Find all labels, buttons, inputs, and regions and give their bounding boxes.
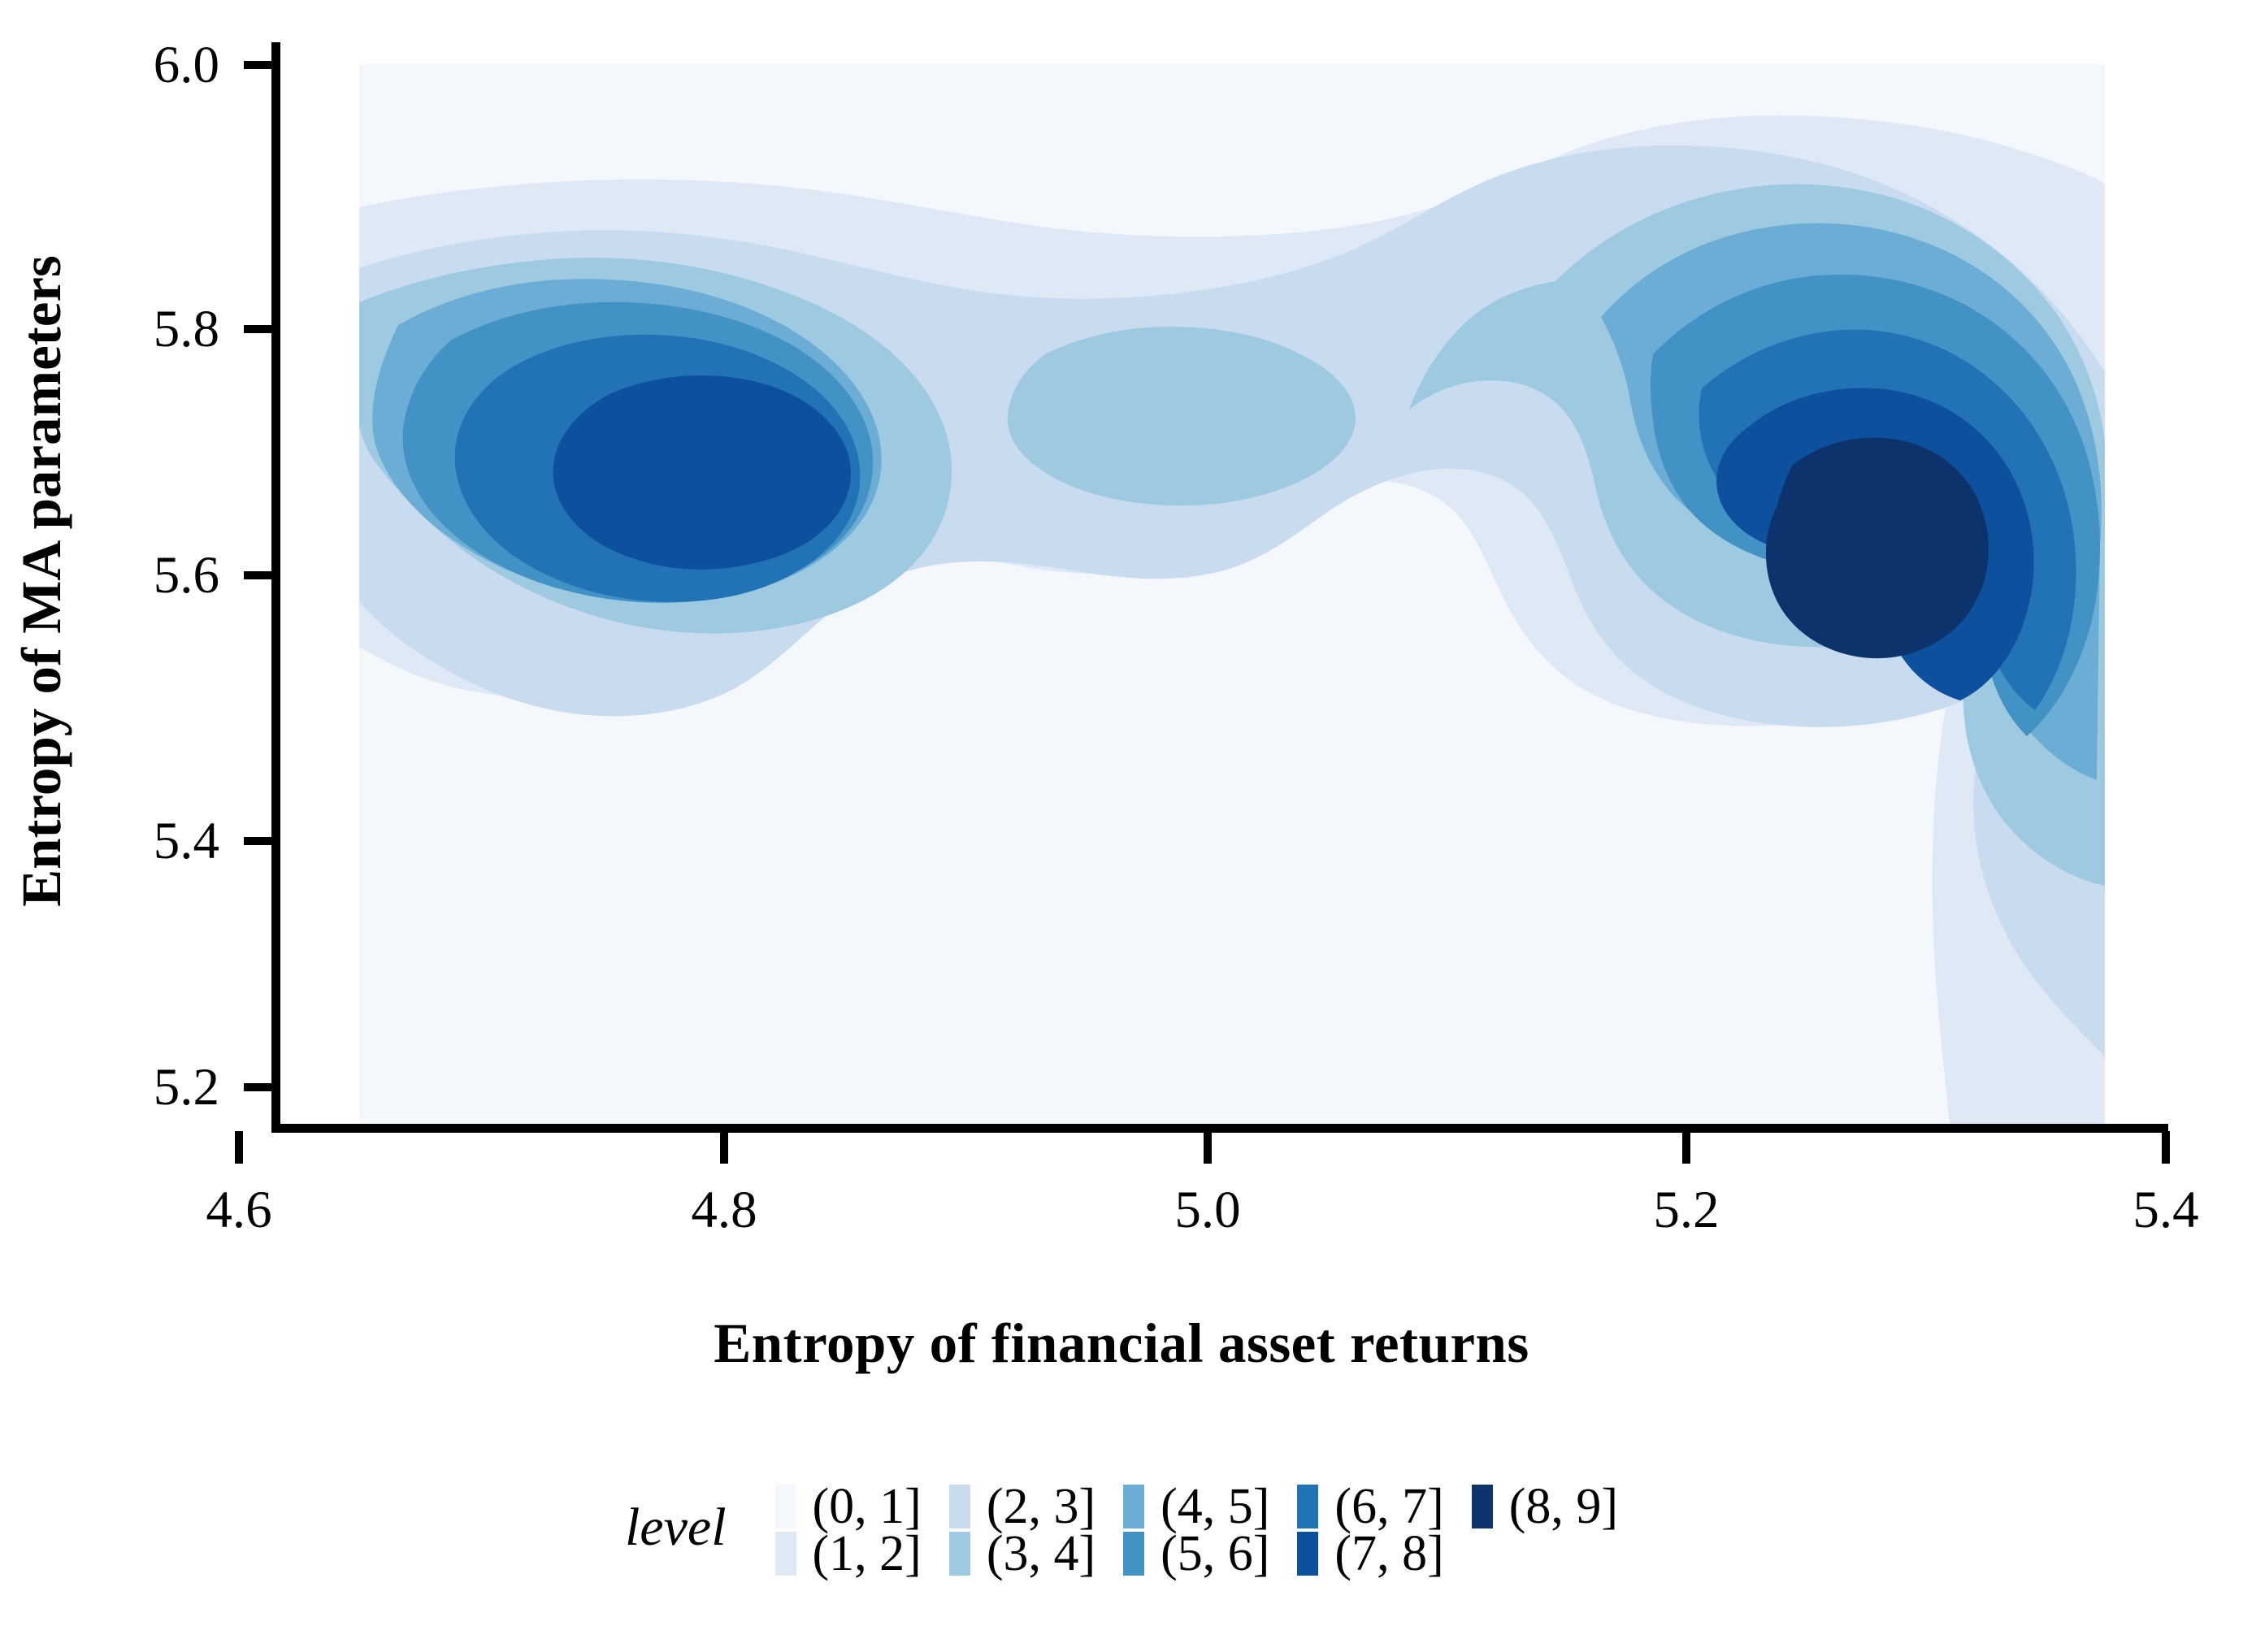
y-axis-ticks bbox=[244, 61, 273, 1091]
legend-label-7-8: (7, 8] bbox=[1334, 1528, 1443, 1579]
legend-entry-8-9[interactable]: (8, 9] bbox=[1472, 1484, 1618, 1529]
legend-label-0-1: (0, 1] bbox=[813, 1481, 922, 1532]
legend-entry-3-4[interactable]: (3, 4] bbox=[949, 1531, 1095, 1576]
legend-swatch-6-7 bbox=[1297, 1485, 1318, 1528]
legend-entry-5-6[interactable]: (5, 6] bbox=[1123, 1531, 1269, 1576]
legend-entry-1-2[interactable]: (1, 2] bbox=[775, 1531, 922, 1576]
legend-label-6-7: (6, 7] bbox=[1334, 1481, 1443, 1532]
legend-swatch-3-4 bbox=[949, 1532, 970, 1576]
legend-entry-2-3[interactable]: (2, 3] bbox=[949, 1484, 1095, 1529]
legend-entry-0-1[interactable]: (0, 1] bbox=[775, 1484, 922, 1529]
contour-layer bbox=[359, 64, 2106, 1130]
legend-label-8-9: (8, 9] bbox=[1509, 1481, 1618, 1532]
legend-label-1-2: (1, 2] bbox=[813, 1528, 922, 1579]
x-tick-label-4-8: 4.8 bbox=[643, 1180, 805, 1241]
legend-entry-4-5[interactable]: (4, 5] bbox=[1123, 1484, 1269, 1529]
legend-swatch-1-2 bbox=[775, 1532, 796, 1576]
legend-swatch-7-8 bbox=[1297, 1532, 1318, 1576]
plot-canvas bbox=[0, 0, 2243, 1652]
legend-swatch-0-1 bbox=[775, 1485, 796, 1528]
legend-entries: (0, 1] (1, 2] (2, 3] (3, 4] (4, 5] (5, 6… bbox=[775, 1484, 1618, 1576]
legend-label-5-6: (5, 6] bbox=[1161, 1528, 1269, 1579]
contour-band-8-9-right bbox=[1766, 437, 1989, 658]
contour-band-7-8-left bbox=[553, 375, 851, 570]
legend: level (0, 1] (1, 2] (2, 3] (3, 4] (4, 5] bbox=[0, 1484, 2243, 1576]
legend-label-3-4: (3, 4] bbox=[987, 1528, 1095, 1579]
legend-label-4-5: (4, 5] bbox=[1161, 1481, 1269, 1532]
x-tick-label-5-2: 5.2 bbox=[1605, 1180, 1768, 1241]
legend-entry-spacer bbox=[1472, 1531, 1618, 1576]
contour-plot-figure: 5.2 5.4 5.6 5.8 6.0 4.6 4.8 5.0 5.2 5.4 … bbox=[0, 0, 2243, 1652]
legend-entry-6-7[interactable]: (6, 7] bbox=[1297, 1484, 1443, 1529]
x-tick-label-4-6: 4.6 bbox=[158, 1180, 320, 1241]
legend-swatch-2-3 bbox=[949, 1485, 970, 1528]
legend-label-2-3: (2, 3] bbox=[987, 1481, 1095, 1532]
legend-swatch-8-9 bbox=[1472, 1485, 1493, 1528]
x-tick-label-5-0: 5.0 bbox=[1126, 1180, 1289, 1241]
y-axis-line bbox=[271, 42, 280, 1133]
x-axis-line bbox=[271, 1124, 2168, 1133]
x-axis-ticks bbox=[235, 1131, 2170, 1164]
y-axis-title: Entropy of MA parameters bbox=[4, 0, 79, 1170]
legend-entry-7-8[interactable]: (7, 8] bbox=[1297, 1531, 1443, 1576]
x-tick-label-5-4: 5.4 bbox=[2085, 1180, 2243, 1241]
legend-swatch-5-6 bbox=[1123, 1532, 1144, 1576]
legend-swatch-4-5 bbox=[1123, 1485, 1144, 1528]
x-axis-title: Entropy of financial asset returns bbox=[0, 1312, 2243, 1376]
legend-title: level bbox=[625, 1501, 727, 1559]
